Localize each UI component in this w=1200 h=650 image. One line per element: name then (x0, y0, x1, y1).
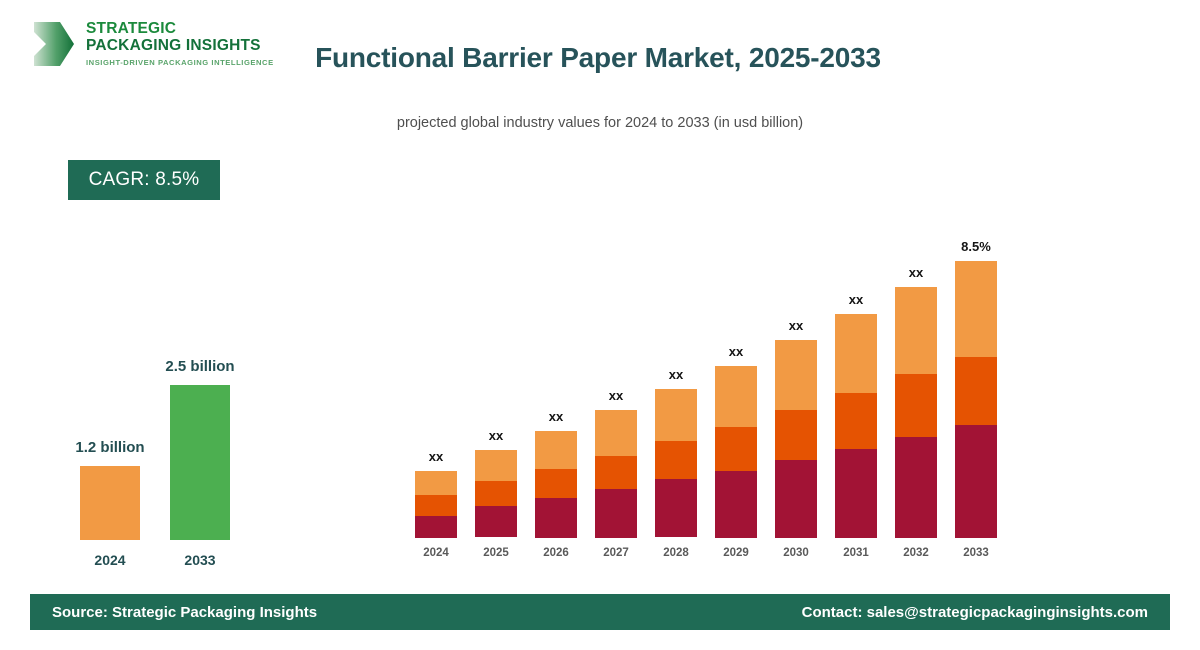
stack-segment-segment-top-2024 (415, 471, 457, 495)
bar-x-label-2033: 2033 (150, 552, 250, 568)
stacked-bar-value-label-2031: xx (816, 292, 896, 307)
stack-segment-segment-middle-2033 (955, 357, 997, 425)
comparison-bar-chart: 1.2 billion20242.5 billion2033 (50, 300, 310, 570)
stack-segment-segment-bottom-2026 (535, 498, 577, 538)
bar-2024 (80, 466, 140, 540)
stack-segment-segment-top-2027 (595, 410, 637, 456)
page-title-text: Functional Barrier Paper Market, 2025-20… (315, 42, 881, 74)
stacked-bar-2031 (835, 314, 877, 538)
stack-segment-segment-middle-2029 (715, 427, 757, 471)
forecast-stacked-bar-chart: xx2024xx2025xx2026xx2027xx2028xx2029xx20… (400, 200, 1020, 560)
stack-segment-segment-middle-2031 (835, 393, 877, 449)
brand-name-line1: STRATEGIC (86, 21, 274, 37)
stack-segment-segment-bottom-2024 (415, 516, 457, 538)
stacked-bar-value-label-2027: xx (576, 388, 656, 403)
bar-fill (170, 385, 230, 540)
stack-segment-segment-middle-2032 (895, 374, 937, 437)
stack-segment-segment-top-2026 (535, 431, 577, 469)
stack-segment-segment-middle-2027 (595, 456, 637, 489)
footer-source: Source: Strategic Packaging Insights (52, 604, 317, 621)
bar-2033 (170, 385, 230, 540)
stack-segment-segment-bottom-2028 (655, 479, 697, 537)
stack-segment-segment-top-2029 (715, 366, 757, 427)
stacked-bar-value-label-2032: xx (876, 265, 956, 280)
stacked-bar-x-label-2033: 2033 (936, 547, 1016, 559)
stacked-bar-2029 (715, 366, 757, 538)
stacked-bar-2028 (655, 389, 697, 538)
stacked-bar-value-label-2028: xx (636, 367, 716, 382)
footer-contact: Contact: sales@strategicpackaginginsight… (802, 604, 1148, 621)
stacked-bar-value-label-2029: xx (696, 344, 776, 359)
stacked-bar-2024 (415, 471, 457, 538)
stacked-bar-2025 (475, 450, 517, 538)
cagr-badge-label: CAGR: 8.5% (89, 169, 200, 191)
bar-fill (80, 466, 140, 540)
stack-segment-segment-middle-2028 (655, 441, 697, 479)
stacked-bar-2030 (775, 340, 817, 538)
stacked-bar-2026 (535, 431, 577, 538)
stacked-bar-value-label-2024: xx (396, 449, 476, 464)
stack-segment-segment-bottom-2033 (955, 425, 997, 538)
stack-segment-segment-middle-2025 (475, 481, 517, 506)
page-title: Functional Barrier Paper Market, 2025-20… (0, 42, 1200, 74)
footer-bar: Source: Strategic Packaging Insights Con… (30, 594, 1170, 630)
stacked-bar-value-label-2033: 8.5% (936, 239, 1016, 254)
stack-segment-segment-bottom-2029 (715, 471, 757, 538)
stacked-bar-2033 (955, 261, 997, 538)
stack-segment-segment-bottom-2030 (775, 460, 817, 538)
stack-segment-segment-top-2033 (955, 261, 997, 357)
stacked-bar-value-label-2025: xx (456, 428, 536, 443)
stack-segment-segment-bottom-2025 (475, 506, 517, 537)
infographic-canvas: STRATEGIC PACKAGING INSIGHTS INSIGHT-DRI… (0, 0, 1200, 650)
stack-segment-segment-top-2032 (895, 287, 937, 374)
bar-value-label-2033: 2.5 billion (120, 358, 280, 375)
stack-segment-segment-top-2031 (835, 314, 877, 393)
stacked-bar-2027 (595, 410, 637, 538)
stack-segment-segment-middle-2030 (775, 410, 817, 460)
stacked-bar-value-label-2030: xx (756, 318, 836, 333)
stack-segment-segment-middle-2024 (415, 495, 457, 516)
stack-segment-segment-bottom-2027 (595, 489, 637, 538)
stacked-bar-2032 (895, 287, 937, 538)
bar-value-label-2024: 1.2 billion (30, 439, 190, 456)
page-subtitle: projected global industry values for 202… (0, 115, 1200, 131)
stack-segment-segment-top-2030 (775, 340, 817, 410)
stack-segment-segment-bottom-2031 (835, 449, 877, 538)
stack-segment-segment-middle-2026 (535, 469, 577, 498)
stack-segment-segment-bottom-2032 (895, 437, 937, 538)
cagr-badge: CAGR: 8.5% (68, 160, 220, 200)
stack-segment-segment-top-2028 (655, 389, 697, 441)
stack-segment-segment-top-2025 (475, 450, 517, 481)
stacked-bar-value-label-2026: xx (516, 409, 596, 424)
bar-x-label-2024: 2024 (60, 552, 160, 568)
